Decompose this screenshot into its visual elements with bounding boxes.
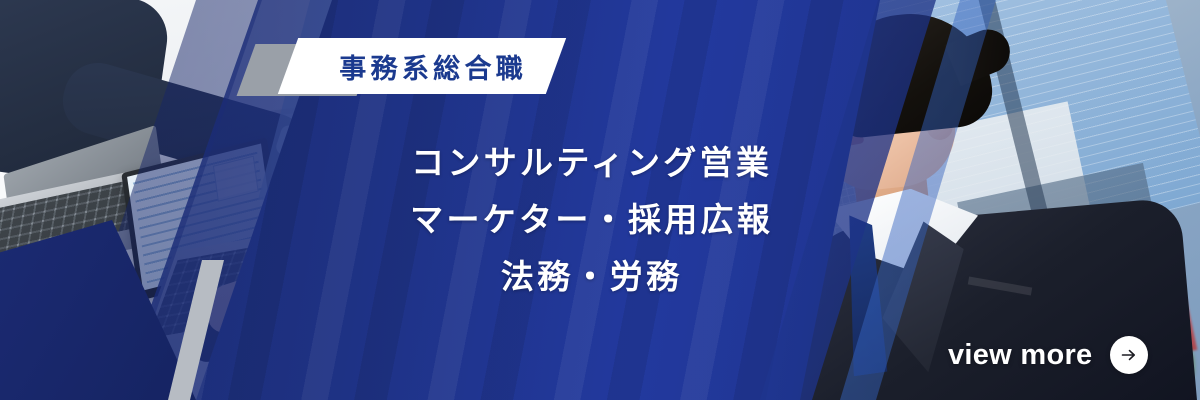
view-more-label: view more [948,339,1092,372]
headline-line-2: マーケター・採用広報 [330,192,850,249]
headline: コンサルティング営業 マーケター・採用広報 法務・労務 [330,135,850,305]
headline-line-1: コンサルティング営業 [330,135,850,192]
arrow-right-icon[interactable] [1110,336,1148,374]
badge-label: 事務系総合職 [316,40,546,92]
headline-line-3: 法務・労務 [330,249,850,306]
recruit-category-banner[interactable]: 事務系総合職 コンサルティング営業 マーケター・採用広報 法務・労務 view … [0,0,1200,400]
view-more-button[interactable]: view more [948,336,1148,374]
